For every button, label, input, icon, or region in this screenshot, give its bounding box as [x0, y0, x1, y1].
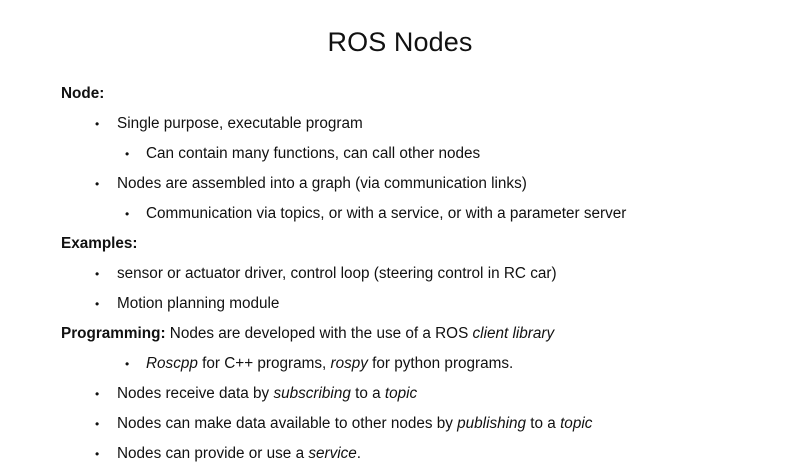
slide-body: Node: • Single purpose, executable progr…: [61, 79, 761, 469]
bullet-emphasis-tail: topic: [560, 415, 592, 432]
bullet-icon: •: [95, 289, 117, 319]
bullet-icon: •: [95, 259, 117, 289]
bullet-text: Nodes can provide or use a: [117, 445, 308, 462]
programming-body-text: Nodes are developed with the use of a RO…: [166, 325, 473, 342]
bullet-item: • Roscpp for C++ programs, rospy for pyt…: [125, 349, 761, 379]
bullet-item: • Single purpose, executable program: [95, 109, 761, 139]
section-heading-node: Node:: [61, 79, 761, 109]
bullet-emphasis-tail: topic: [385, 385, 417, 402]
bullet-icon: •: [125, 199, 146, 229]
section-heading-examples: Examples:: [61, 229, 761, 259]
bullet-text: Single purpose, executable program: [117, 109, 363, 139]
section-heading-examples-label: Examples:: [61, 235, 138, 252]
bullet-text: Can contain many functions, can call oth…: [146, 139, 480, 169]
bullet-item: • Nodes can provide or use a service.: [95, 439, 761, 469]
bullet-text-tail: to a: [351, 385, 385, 402]
bullet-emphasis-mid: subscribing: [273, 385, 350, 402]
bullet-icon: •: [95, 169, 117, 199]
bullet-item: • Nodes receive data by subscribing to a…: [95, 379, 761, 409]
bullet-icon: •: [125, 139, 146, 169]
programming-emphasis-text: client library: [473, 325, 555, 342]
bullet-icon: •: [95, 109, 117, 139]
bullet-text-tail: to a: [526, 415, 560, 432]
bullet-text: Nodes can make data available to other n…: [117, 415, 457, 432]
bullet-emphasis-head: Roscpp: [146, 355, 198, 372]
page-title: ROS Nodes: [0, 28, 800, 58]
bullet-emphasis-mid: publishing: [457, 415, 526, 432]
section-heading-programming: Programming: Nodes are developed with th…: [61, 319, 761, 349]
bullet-text: Nodes are assembled into a graph (via co…: [117, 169, 527, 199]
bullet-text: Nodes receive data by: [117, 385, 273, 402]
bullet-text-tail: for python programs.: [368, 355, 513, 372]
bullet-emphasis-mid: rospy: [331, 355, 368, 372]
bullet-item: • Nodes are assembled into a graph (via …: [95, 169, 761, 199]
bullet-text: for C++ programs,: [198, 355, 331, 372]
bullet-text: sensor or actuator driver, control loop …: [117, 259, 557, 289]
section-heading-programming-label: Programming:: [61, 325, 166, 342]
bullet-item: • sensor or actuator driver, control loo…: [95, 259, 761, 289]
slide: ROS Nodes Node: • Single purpose, execut…: [0, 0, 800, 450]
bullet-icon: •: [95, 409, 117, 439]
bullet-text: Motion planning module: [117, 289, 279, 319]
bullet-icon: •: [125, 349, 146, 379]
bullet-item: • Nodes can make data available to other…: [95, 409, 761, 439]
bullet-icon: •: [95, 439, 117, 469]
bullet-item: • Communication via topics, or with a se…: [125, 199, 761, 229]
bullet-text-tail: .: [357, 445, 361, 462]
section-heading-node-label: Node:: [61, 85, 104, 102]
bullet-item: • Can contain many functions, can call o…: [125, 139, 761, 169]
bullet-item: • Motion planning module: [95, 289, 761, 319]
bullet-icon: •: [95, 379, 117, 409]
bullet-emphasis-mid: service: [308, 445, 356, 462]
bullet-text: Communication via topics, or with a serv…: [146, 199, 626, 229]
